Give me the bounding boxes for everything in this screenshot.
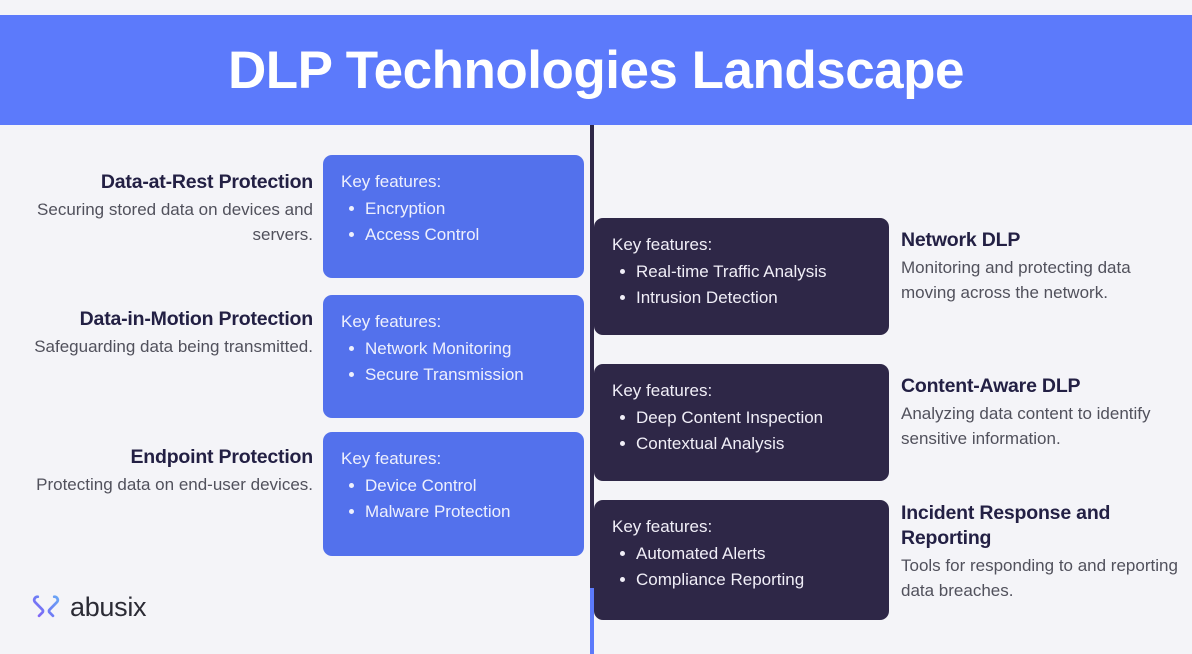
page-title: DLP Technologies Landscape: [228, 44, 964, 97]
key-features-list: Network Monitoring Secure Transmission: [341, 336, 584, 389]
key-features-label: Key features:: [612, 380, 889, 402]
abusix-x-mark-icon: [31, 592, 61, 622]
right-item-description: Tools for responding to and reporting da…: [901, 554, 1186, 603]
left-item-title: Data-in-Motion Protection: [10, 307, 313, 331]
right-item-text-block: Network DLP Monitoring and protecting da…: [901, 228, 1186, 305]
right-item-description: Analyzing data content to identify sensi…: [901, 402, 1186, 451]
right-item-description: Monitoring and protecting data moving ac…: [901, 256, 1186, 305]
list-item: Malware Protection: [341, 499, 584, 525]
left-item-description: Safeguarding data being transmitted.: [10, 335, 313, 359]
content-stage: Data-at-Rest Protection Securing stored …: [0, 125, 1192, 654]
left-item-text-block: Data-in-Motion Protection Safeguarding d…: [10, 307, 313, 360]
list-item: Compliance Reporting: [612, 567, 889, 593]
left-item-text-block: Data-at-Rest Protection Securing stored …: [10, 170, 313, 247]
brand-logo[interactable]: abusix: [31, 592, 146, 622]
left-key-features-card[interactable]: Key features: Encryption Access Control: [323, 155, 584, 278]
left-item-title: Data-at-Rest Protection: [10, 170, 313, 194]
right-key-features-card[interactable]: Key features: Automated Alerts Complianc…: [594, 500, 889, 620]
right-item-title: Incident Response and Reporting: [901, 501, 1186, 551]
list-item: Secure Transmission: [341, 362, 584, 388]
key-features-list: Automated Alerts Compliance Reporting: [612, 541, 889, 594]
left-item-text-block: Endpoint Protection Protecting data on e…: [10, 445, 313, 498]
key-features-label: Key features:: [612, 516, 889, 538]
right-key-features-card[interactable]: Key features: Deep Content Inspection Co…: [594, 364, 889, 481]
list-item: Access Control: [341, 222, 584, 248]
list-item: Automated Alerts: [612, 541, 889, 567]
brand-wordmark: abusix: [70, 594, 146, 621]
key-features-label: Key features:: [341, 448, 584, 470]
key-features-list: Device Control Malware Protection: [341, 473, 584, 526]
list-item: Device Control: [341, 473, 584, 499]
list-item: Contextual Analysis: [612, 431, 889, 457]
list-item: Real-time Traffic Analysis: [612, 259, 889, 285]
list-item: Network Monitoring: [341, 336, 584, 362]
left-key-features-card[interactable]: Key features: Network Monitoring Secure …: [323, 295, 584, 418]
right-item-title: Network DLP: [901, 228, 1186, 253]
page-header-banner: DLP Technologies Landscape: [0, 15, 1192, 125]
key-features-label: Key features:: [341, 311, 584, 333]
key-features-label: Key features:: [341, 171, 584, 193]
left-item-title: Endpoint Protection: [10, 445, 313, 469]
left-item-description: Protecting data on end-user devices.: [10, 473, 313, 497]
right-key-features-card[interactable]: Key features: Real-time Traffic Analysis…: [594, 218, 889, 335]
list-item: Intrusion Detection: [612, 285, 889, 311]
key-features-list: Real-time Traffic Analysis Intrusion Det…: [612, 259, 889, 312]
left-key-features-card[interactable]: Key features: Device Control Malware Pro…: [323, 432, 584, 556]
right-item-text-block: Content-Aware DLP Analyzing data content…: [901, 374, 1186, 451]
list-item: Encryption: [341, 196, 584, 222]
list-item: Deep Content Inspection: [612, 405, 889, 431]
key-features-list: Deep Content Inspection Contextual Analy…: [612, 405, 889, 458]
key-features-label: Key features:: [612, 234, 889, 256]
left-item-description: Securing stored data on devices and serv…: [10, 198, 313, 246]
right-item-text-block: Incident Response and Reporting Tools fo…: [901, 501, 1186, 603]
key-features-list: Encryption Access Control: [341, 196, 584, 249]
right-item-title: Content-Aware DLP: [901, 374, 1186, 399]
